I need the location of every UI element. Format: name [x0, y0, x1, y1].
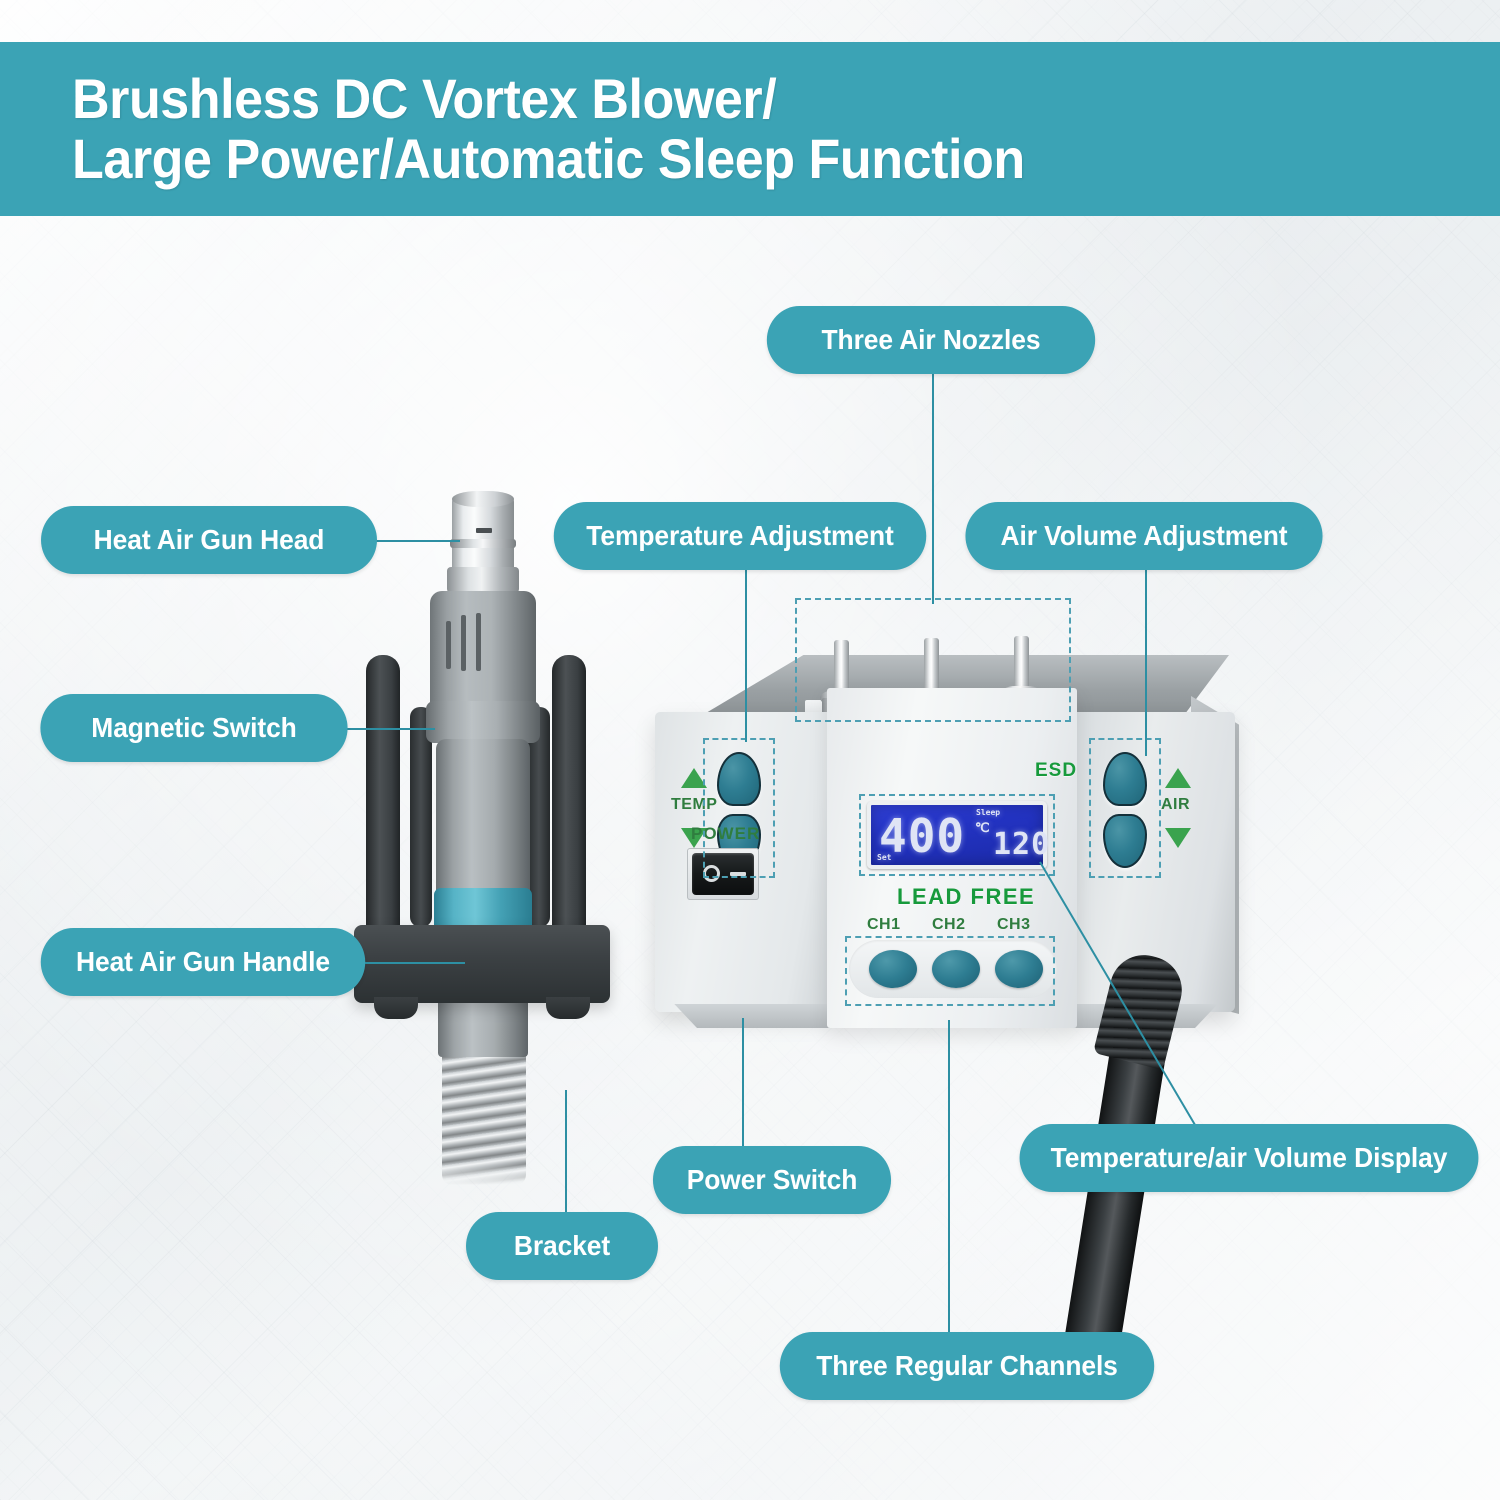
banner-line-2: Large Power/Automatic Sleep Function — [72, 129, 1400, 189]
header-banner: Brushless DC Vortex Blower/ Large Power/… — [0, 42, 1500, 216]
callout-three-regular-channels[interactable]: Three Regular Channels — [780, 1332, 1154, 1400]
callout-heat-air-gun-head[interactable]: Heat Air Gun Head — [41, 506, 377, 574]
callout-temperature-air-volume-display[interactable]: Temperature/air Volume Display — [1020, 1124, 1479, 1192]
callout-heat-air-gun-handle[interactable]: Heat Air Gun Handle — [41, 928, 365, 996]
callout-temperature-adjustment[interactable]: Temperature Adjustment — [554, 502, 926, 570]
banner-line-1: Brushless DC Vortex Blower/ — [72, 69, 1400, 129]
callout-air-volume-adjustment[interactable]: Air Volume Adjustment — [965, 502, 1322, 570]
callout-power-switch[interactable]: Power Switch — [653, 1146, 891, 1214]
callout-magnetic-switch[interactable]: Magnetic Switch — [40, 694, 347, 762]
callout-three-air-nozzles[interactable]: Three Air Nozzles — [767, 306, 1095, 374]
callout-bracket[interactable]: Bracket — [466, 1212, 658, 1280]
